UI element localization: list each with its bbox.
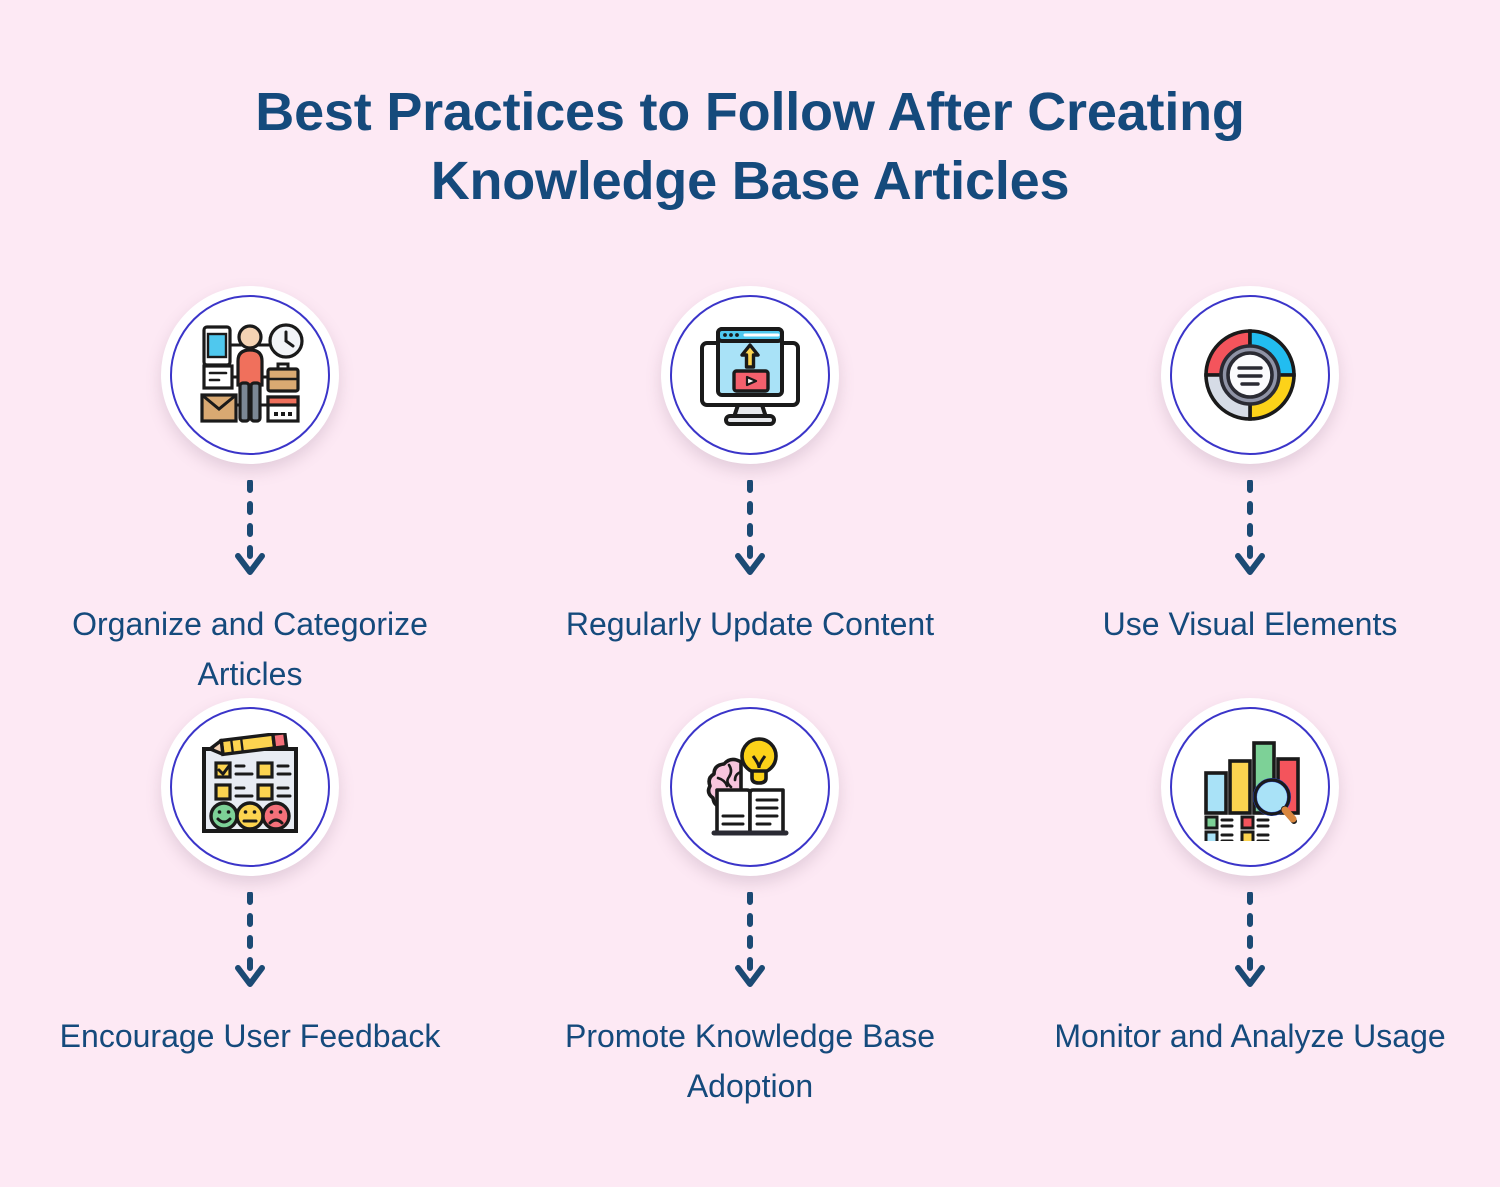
dashed-down-arrow-icon [230,480,270,588]
organize-people-schedule-icon [194,319,306,431]
practice-label: Use Visual Elements [1103,600,1398,650]
brain-lightbulb-book-icon [695,732,805,842]
page-title: Best Practices to Follow After Creating … [0,78,1500,216]
practice-item-feedback: Encourage User Feedback [0,698,500,1110]
infographic-page: Best Practices to Follow After Creating … [0,0,1500,1187]
practice-label: Monitor and Analyze Usage [1054,1012,1445,1062]
practice-icon-badge[interactable] [661,286,839,464]
practice-label: Promote Knowledge Base Adoption [540,1012,960,1111]
donut-chart-icon [1198,323,1302,427]
dashed-down-arrow-icon [730,480,770,588]
practice-icon-badge[interactable] [661,698,839,876]
practice-item-adoption: Promote Knowledge Base Adoption [500,698,1000,1110]
practice-item-monitor: Monitor and Analyze Usage [1000,698,1500,1110]
feedback-survey-icon [196,733,304,841]
dashed-down-arrow-icon [730,892,770,1000]
practice-label: Organize and Categorize Articles [40,600,460,699]
practice-item-visuals: Use Visual Elements [1000,286,1500,698]
dashed-down-arrow-icon [230,892,270,1000]
practice-label: Regularly Update Content [566,600,934,650]
practices-grid: Organize and Categorize Articles [0,286,1500,1110]
dashed-down-arrow-icon [1230,892,1270,1000]
practice-label: Encourage User Feedback [60,1012,441,1062]
bar-chart-magnifier-icon [1196,733,1304,841]
monitor-video-upload-icon [696,321,804,429]
practice-item-organize: Organize and Categorize Articles [0,286,500,698]
practice-item-update: Regularly Update Content [500,286,1000,698]
practice-icon-badge[interactable] [161,698,339,876]
dashed-down-arrow-icon [1230,480,1270,588]
practice-icon-badge[interactable] [161,286,339,464]
practice-icon-badge[interactable] [1161,698,1339,876]
practice-icon-badge[interactable] [1161,286,1339,464]
